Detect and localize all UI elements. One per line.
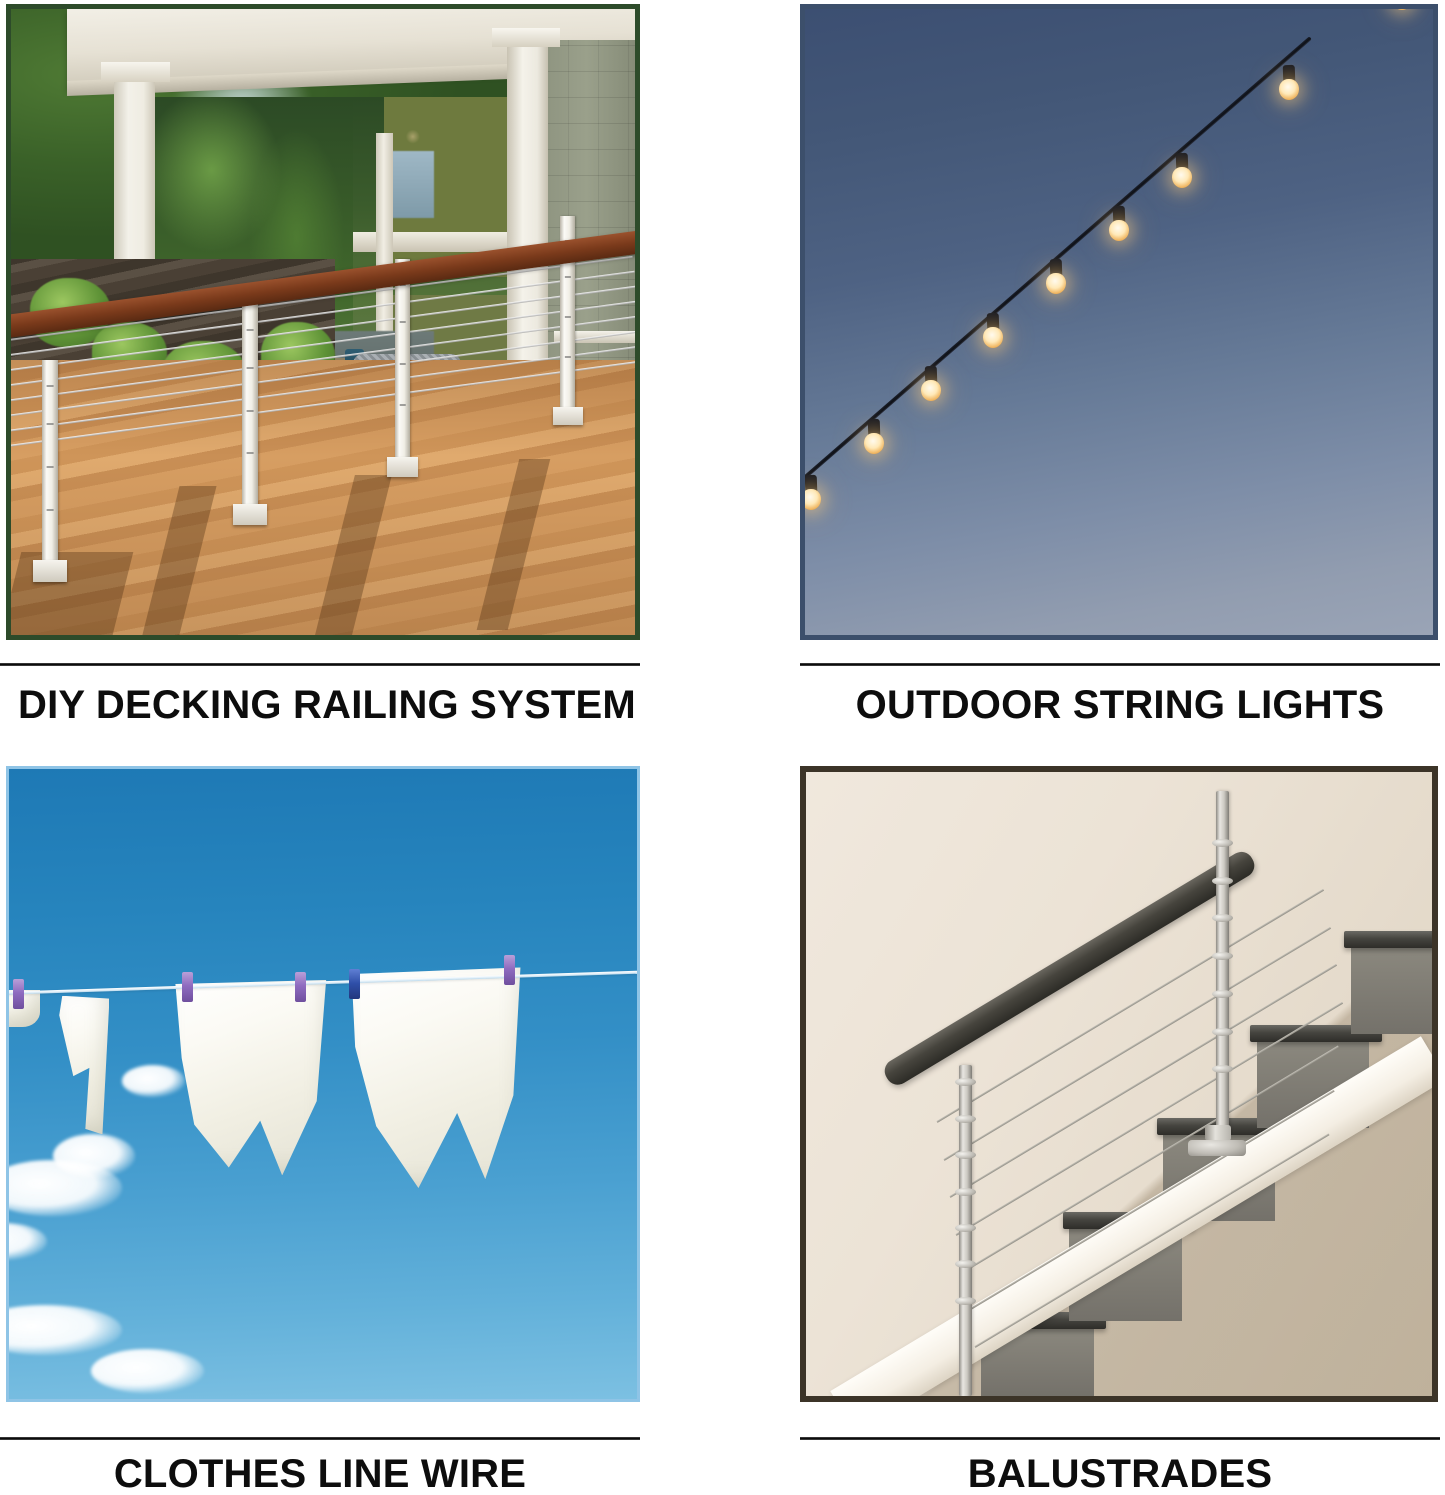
bulb-glass	[1392, 9, 1412, 10]
clothespin	[13, 979, 24, 1009]
stair-riser	[1351, 940, 1432, 1034]
balustrade-photo[interactable]	[800, 766, 1438, 1402]
cloud	[122, 1065, 185, 1097]
balustrade-post	[1216, 791, 1229, 1134]
light-string	[805, 9, 1433, 635]
porch-column-right-cap	[492, 28, 561, 47]
clothes-line-scene	[9, 769, 637, 1399]
caption-divider-bottom-left	[0, 1437, 640, 1440]
balustrade-post	[959, 1065, 972, 1396]
railing-post-base	[233, 504, 267, 525]
caption-deck-railing: DIY DECKING RAILING SYSTEM	[18, 683, 636, 728]
bulb-glass	[983, 327, 1003, 348]
post-collar	[1205, 1125, 1231, 1141]
caption-divider-bottom-right	[800, 1437, 1440, 1440]
railing-post-base	[387, 457, 418, 477]
stair-tread	[1344, 931, 1432, 948]
clothespin	[349, 969, 360, 999]
caption-divider-top-left	[0, 663, 640, 666]
bulb-glass	[921, 380, 941, 401]
railing-post	[42, 360, 58, 573]
railing-post	[395, 259, 411, 466]
bulb-glass	[1279, 79, 1299, 100]
caption-divider-top-right	[800, 663, 1440, 666]
product-applications-grid: DIY DECKING RAILING SYSTEM	[0, 0, 1445, 1495]
caption-clothes-line: CLOTHES LINE WIRE	[0, 1452, 640, 1495]
clothes-line-photo[interactable]	[6, 766, 640, 1402]
bulb-glass	[864, 433, 884, 454]
string-lights-photo[interactable]	[800, 4, 1438, 640]
bulb-glass	[1046, 273, 1066, 294]
porch-column-left-cap	[101, 62, 170, 82]
railing-post	[242, 303, 258, 516]
cloud	[91, 1349, 204, 1393]
bulb-glass	[1172, 167, 1192, 188]
railing-shadow	[11, 552, 134, 635]
deck-railing-photo[interactable]	[6, 4, 640, 640]
deck-railing-scene	[11, 9, 635, 635]
bulb-glass	[805, 489, 821, 510]
caption-string-lights: OUTDOOR STRING LIGHTS	[800, 683, 1440, 728]
clothespin	[295, 972, 306, 1002]
clothespin	[182, 972, 193, 1002]
caption-balustrades: BALUSTRADES	[800, 1452, 1440, 1495]
railing-post-base	[553, 407, 583, 426]
interior-window	[391, 151, 434, 219]
cloud	[53, 1134, 135, 1178]
post-base-flange	[1188, 1140, 1246, 1156]
balustrade-scene	[806, 772, 1432, 1396]
bulb-glass	[1109, 220, 1129, 241]
clothespin	[504, 955, 515, 985]
railing-post-base	[33, 560, 67, 583]
string-lights-scene	[805, 9, 1433, 635]
